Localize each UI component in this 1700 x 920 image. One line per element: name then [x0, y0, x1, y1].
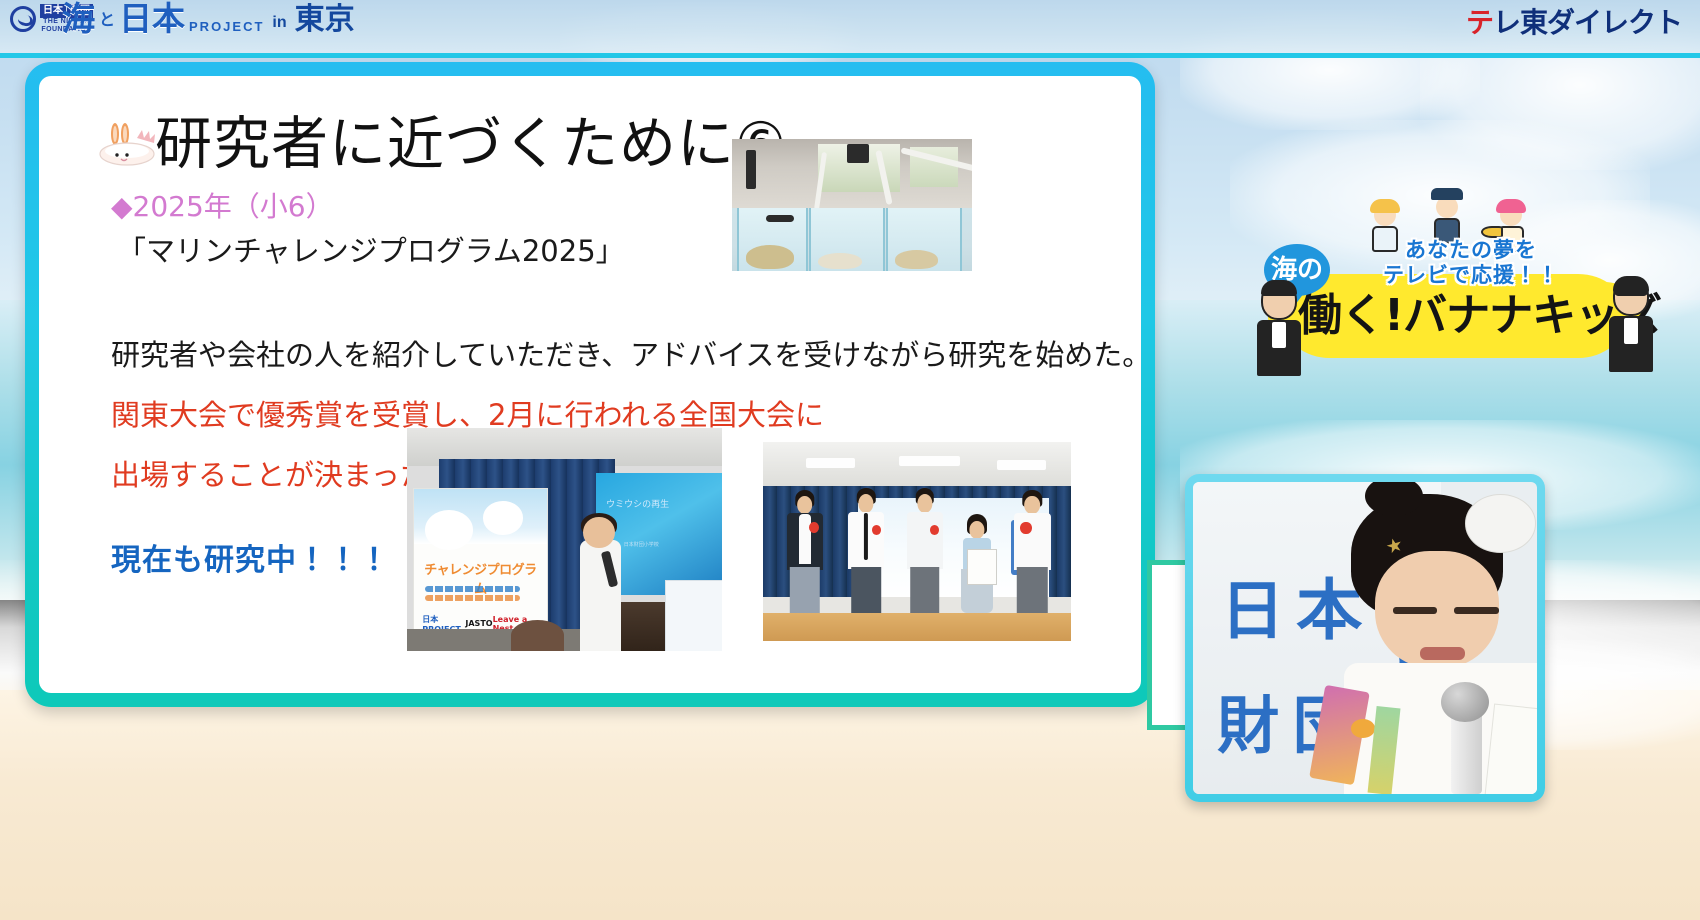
banner-cloud: [425, 510, 473, 549]
audience-head: [511, 620, 565, 651]
sponsor-logo-jasto: JASTO: [465, 619, 492, 628]
backdrop-kanji-3: 財: [1217, 675, 1279, 765]
person-legs: [851, 567, 881, 613]
banner-wave: [425, 586, 520, 592]
slide-title-row: 研究者に近づくために⑥: [97, 114, 787, 174]
video-screen: 日 本 財 団 ★: [1193, 482, 1537, 794]
show-logo-title: 働く!バナナキッズ: [1298, 280, 1616, 352]
slide-body-line-3: 出場することが決まった。: [111, 458, 458, 492]
person-tie: [864, 513, 868, 561]
slide-body-line-4: 現在も研究中！！！: [111, 544, 390, 578]
event-banner: チャレンジプログラム 日本PROJECT JASTO Leave a Nest: [413, 488, 547, 642]
header-bar: 日本 財団 THE NIPPON FOUNDATION 海 と 日本 PROJE…: [0, 0, 1700, 58]
microphone-head: [1441, 682, 1489, 723]
certificate: [967, 549, 996, 585]
umi-logo-to: と: [99, 6, 115, 30]
ceiling-light: [806, 458, 855, 468]
slide-body-line-2: 関東大会で優秀賞を受賞し、2月に行われる全国大会に: [111, 398, 824, 432]
slide-body-line-1: 研究者や会社の人を紹介していただき、アドバイスを受けながら研究を始めた。: [111, 338, 1141, 372]
person-legs: [789, 567, 819, 613]
banner-wave: [425, 595, 520, 601]
umi-logo-sea: 海: [62, 2, 95, 36]
presentation-slide-frame: 研究者に近づくために⑥ ◆2025年（小6） 「マリンチャレンジプログラム202…: [25, 62, 1155, 707]
microphone-body: [1451, 713, 1482, 794]
person-shirt: [1014, 513, 1050, 570]
show-logo-tagline-line-1: あなたの夢を: [1344, 238, 1598, 263]
podium-sign: [665, 580, 722, 651]
ceiling-light: [997, 460, 1046, 470]
show-logo-tagline-line-2: テレビで応援！！: [1344, 263, 1598, 288]
show-logo-tagline: あなたの夢を テレビで応援！！: [1344, 238, 1598, 288]
host-character-right: [1602, 278, 1660, 372]
umi-to-nippon-project-logo: 海 と 日本 PROJECT in 東京: [62, 2, 355, 36]
person-shirt: [907, 512, 943, 570]
kid-head: [1436, 196, 1458, 218]
award-ribbon: [1020, 522, 1031, 534]
host-head: [1613, 278, 1649, 316]
speaker-eye: [1454, 607, 1499, 614]
broadcast-screen: 日本 財団 THE NIPPON FOUNDATION 海 と 日本 PROJE…: [0, 0, 1700, 920]
speaker-hair-accessory: [1465, 494, 1536, 552]
umi-logo-japan: 日本: [119, 2, 185, 36]
host-suit: [1257, 320, 1301, 376]
award-student: [957, 514, 997, 614]
umi-logo-project: PROJECT: [189, 20, 264, 34]
tv-tokyo-rest: レ東ダイレクト: [1493, 6, 1682, 39]
person-legs: [1017, 567, 1047, 613]
host-shirt: [1624, 318, 1638, 344]
kid-character-pilot: [1430, 196, 1464, 244]
award-ceremony-photo: [763, 442, 1071, 641]
host-suit: [1609, 316, 1653, 372]
speaker-eye: [1393, 607, 1438, 614]
slide-title: 研究者に近づくために⑥: [155, 114, 787, 174]
lab-equipment: [847, 144, 869, 162]
kid-head: [1500, 204, 1522, 226]
award-person: [1009, 490, 1055, 613]
slide-subtitle: ◆2025年（小6）: [111, 191, 334, 223]
banner-cloud: [483, 501, 523, 534]
rabbit-icon: [97, 122, 159, 166]
presentation-slide: 研究者に近づくために⑥ ◆2025年（小6） 「マリンチャレンジプログラム202…: [39, 76, 1141, 693]
backdrop-kanji-1: 日: [1221, 560, 1285, 652]
person-shirt: [799, 514, 811, 563]
kid-head: [1374, 204, 1396, 226]
award-person: [781, 490, 827, 613]
aquarium-tanks-photo: [732, 139, 972, 271]
host-hair: [1261, 280, 1297, 296]
screen-subtitle: 日本財団小学校: [624, 541, 659, 548]
umi-logo-city: 東京: [295, 4, 355, 36]
person-head: [1025, 496, 1041, 515]
person-head: [797, 496, 813, 515]
coral-rock: [746, 245, 794, 269]
speaker-mouth: [1420, 647, 1465, 659]
tank-row: [732, 208, 972, 271]
coral-rock: [818, 253, 861, 269]
coral-rock: [895, 250, 938, 269]
person-head: [917, 494, 932, 513]
speaker-badge: [1351, 719, 1375, 738]
award-person: [843, 488, 889, 613]
person-head: [859, 494, 874, 513]
ceiling-light: [899, 456, 961, 466]
speaker-script-paper: [1484, 703, 1537, 794]
person-legs: [910, 567, 940, 613]
umi-logo-in: in: [272, 14, 286, 32]
show-logo: あなたの夢を テレビで応援！！ 海の 働く!バナナキッズ: [1258, 196, 1650, 364]
wood-floor: [763, 613, 1071, 641]
host-character-left: [1250, 282, 1308, 376]
host-hair: [1613, 276, 1649, 296]
nippon-foundation-mark-icon: [10, 6, 36, 32]
student-head: [969, 521, 984, 539]
tank-filter: [766, 215, 795, 221]
presentation-stage-photo: ウミウシの再生 日本財団小学校 チャレンジプログラム 日本PROJECT JAS…: [407, 428, 722, 651]
tv-tokyo-accent-char: テ: [1466, 6, 1493, 39]
fish-icon: [1481, 226, 1503, 238]
lab-equipment: [746, 150, 756, 190]
screen-title: ウミウシの再生: [606, 497, 669, 510]
award-person: [902, 488, 948, 613]
slide-program-name: 「マリンチャレンジプログラム2025」: [117, 234, 625, 268]
speaker-video-inset[interactable]: 日 本 財 団 ★: [1185, 474, 1545, 802]
host-shirt: [1272, 322, 1286, 348]
tv-tokyo-direct-logo: テレ東ダイレクト: [1466, 6, 1682, 40]
host-head: [1261, 282, 1297, 320]
